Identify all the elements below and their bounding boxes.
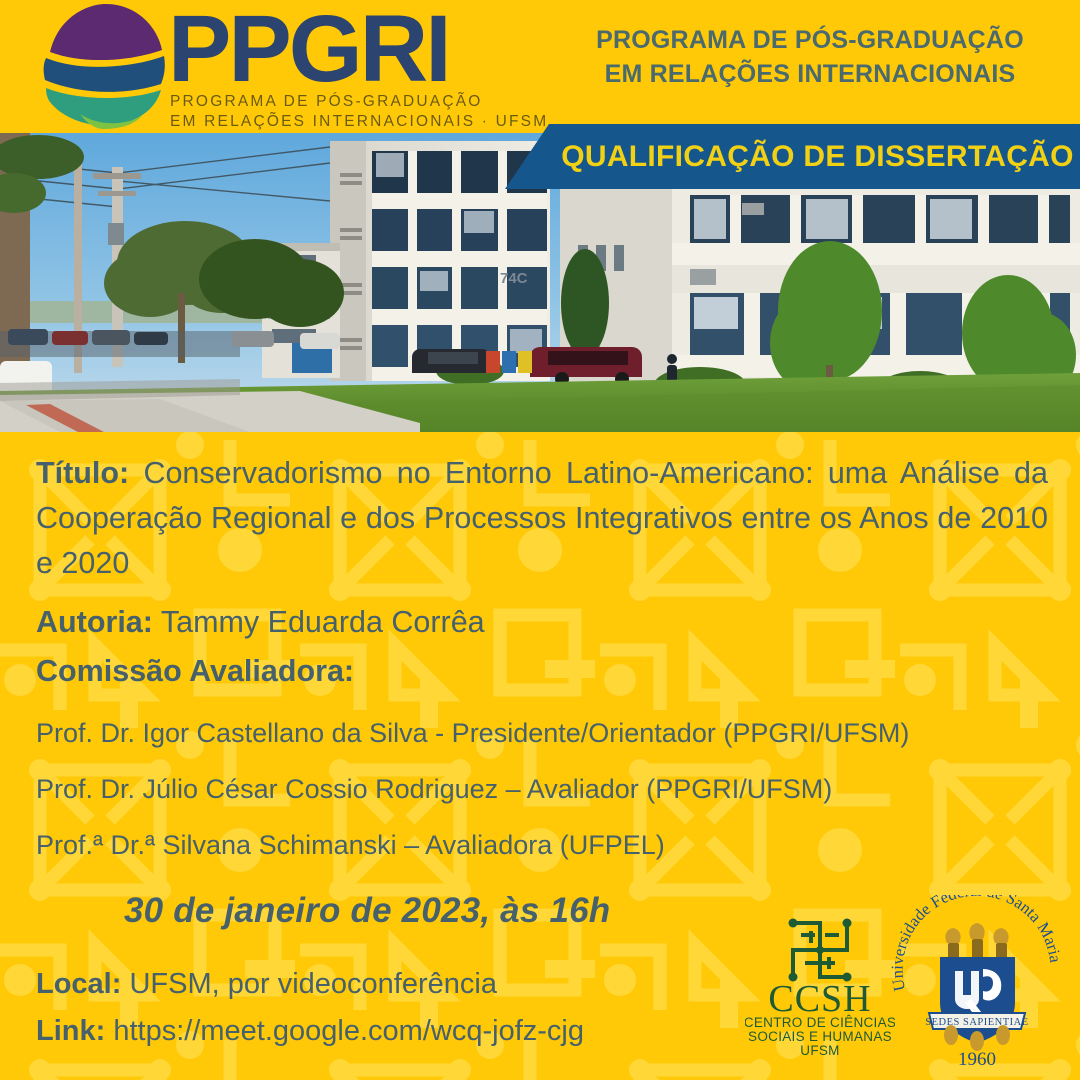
qualification-ribbon: QUALIFICAÇÃO DE DISSERTAÇÃO [505,124,1080,189]
autoria-block: Autoria: Tammy Eduarda Corrêa [36,601,485,644]
autoria-value: Tammy Eduarda Corrêa [161,605,485,639]
poster-header: PPGRI PROGRAMA DE PÓS-GRADUAÇÃO EM RELAÇ… [0,0,1080,133]
ppgri-globe-logo-icon [28,4,180,129]
ccsh-logo: CCSH CENTRO DE CIÊNCIAS SOCIAIS E HUMANA… [745,905,895,1055]
link-value[interactable]: https://meet.google.com/wcq-jofz-cjg [113,1015,584,1047]
autoria-label: Autoria: [36,605,153,639]
local-label: Local: [36,968,121,1000]
link-block: Link: https://meet.google.com/wcq-jofz-c… [36,1015,584,1048]
comissao-label: Comissão Avaliadora: [36,654,354,689]
poster-root: 74C [0,0,1080,1080]
titulo-block: Título: Conservadorismo no Entorno Latin… [36,451,1048,585]
comissao-member: Prof. Dr. Júlio César Cossio Rodriguez –… [36,771,832,809]
ppgri-wordmark: PPGRI [168,2,449,97]
titulo-label: Título: [36,456,129,490]
comissao-member: Prof. Dr. Igor Castellano da Silva - Pre… [36,715,909,753]
local-value: UFSM, por videoconferência [129,968,497,1000]
ribbon-label: QUALIFICAÇÃO DE DISSERTAÇÃO [505,124,1080,189]
ccsh-line2: SOCIAIS E HUMANAS [748,1029,892,1044]
program-title: PROGRAMA DE PÓS-GRADUAÇÃO EM RELAÇÕES IN… [560,24,1060,92]
svg-text:74C: 74C [500,270,528,287]
ccsh-line1: CENTRO DE CIÊNCIAS [745,1015,895,1030]
link-label: Link: [36,1015,105,1047]
ppgri-logo-subtitle: PROGRAMA DE PÓS-GRADUAÇÃO EM RELAÇÕES IN… [170,92,548,132]
event-date: 30 de janeiro de 2023, às 16h [124,891,610,931]
ufsm-motto: SEDES SAPIENTIAE [925,1017,1028,1028]
ccsh-line3: UFSM [800,1043,839,1055]
comissao-member: Prof.ª Dr.ª Silvana Schimanski – Avaliad… [36,827,665,865]
local-block: Local: UFSM, por videoconferência [36,968,497,1001]
titulo-value: Conservadorismo no Entorno Latino-Americ… [36,456,1048,580]
ufsm-year: 1960 [958,1049,996,1070]
ufsm-seal-logo: Universidade Federal de Santa Maria [885,895,1070,1080]
ccsh-acronym: CCSH [768,978,871,1020]
